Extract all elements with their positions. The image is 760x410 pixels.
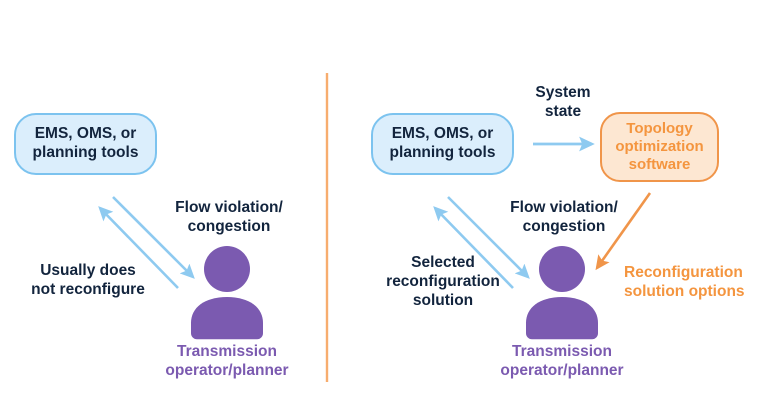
left-person-icon	[191, 246, 263, 339]
diagram-vector-layer	[0, 0, 760, 410]
left-tools-box-line2: planning tools	[33, 144, 139, 161]
selected-solution-line2: reconfiguration	[386, 273, 500, 290]
left-no-reconfig-line1: Usually does	[40, 262, 136, 279]
right-flow-violation-line2: congestion	[523, 218, 606, 235]
reconfiguration-solution-options-label: Reconfiguration solution options	[624, 264, 760, 302]
right-flow-violation-label: Flow violation/ congestion	[492, 199, 636, 237]
right-actor-line1: Transmission	[512, 343, 612, 360]
left-actor-line1: Transmission	[177, 343, 277, 360]
selected-solution-line3: solution	[413, 292, 473, 309]
right-person-icon	[526, 246, 598, 339]
reconfig-options-line2: solution options	[624, 283, 745, 300]
left-no-reconfig-line2: not reconfigure	[31, 281, 145, 298]
right-actor-label: Transmission operator/planner	[487, 343, 637, 381]
left-usually-does-not-reconfigure-label: Usually does not reconfigure	[8, 262, 168, 300]
system-state-line1: System	[535, 84, 590, 101]
optimizer-line3: software	[629, 156, 691, 173]
left-actor-line2: operator/planner	[165, 362, 288, 379]
selected-solution-line1: Selected	[411, 254, 475, 271]
system-state-line2: state	[545, 103, 581, 120]
right-actor-line2: operator/planner	[500, 362, 623, 379]
right-tools-box[interactable]: EMS, OMS, or planning tools	[371, 113, 514, 175]
left-tools-box-line1: EMS, OMS, or	[35, 125, 137, 142]
system-state-label: System state	[513, 84, 613, 122]
left-flow-violation-label: Flow violation/ congestion	[157, 199, 301, 237]
reconfig-options-line1: Reconfiguration	[624, 264, 743, 281]
right-tools-box-line1: EMS, OMS, or	[392, 125, 494, 142]
left-flow-violation-line2: congestion	[188, 218, 271, 235]
topology-optimization-box[interactable]: Topology optimization software	[600, 112, 719, 182]
left-flow-violation-line1: Flow violation/	[175, 199, 283, 216]
right-flow-violation-line1: Flow violation/	[510, 199, 618, 216]
optimizer-line1: Topology	[626, 120, 692, 137]
left-actor-label: Transmission operator/planner	[152, 343, 302, 381]
optimizer-line2: optimization	[615, 138, 703, 155]
right-tools-box-line2: planning tools	[390, 144, 496, 161]
diagram-canvas: EMS, OMS, or planning tools Flow violati…	[0, 0, 760, 410]
left-tools-box[interactable]: EMS, OMS, or planning tools	[14, 113, 157, 175]
selected-reconfiguration-solution-label: Selected reconfiguration solution	[368, 254, 518, 311]
